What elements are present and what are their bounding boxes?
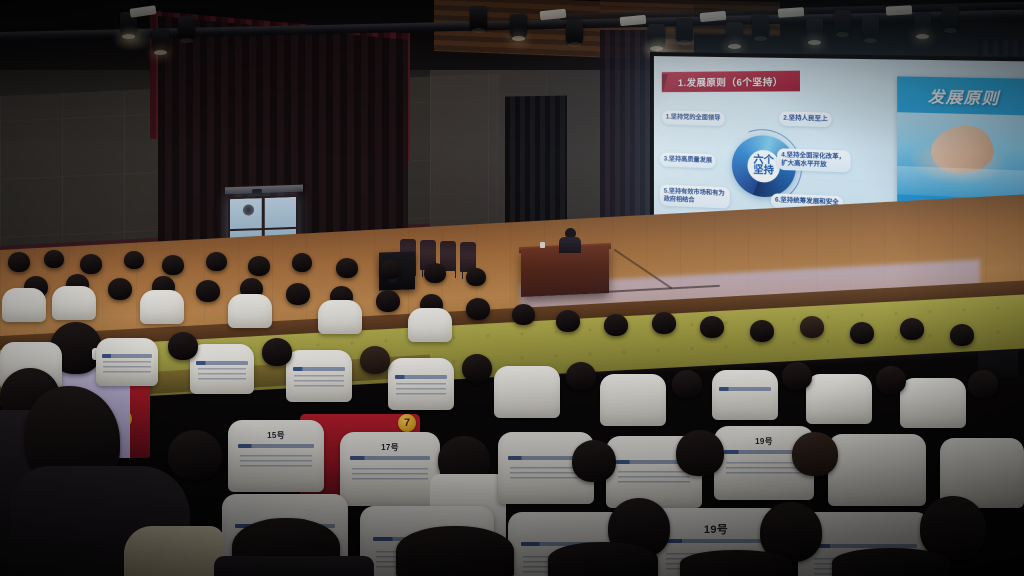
diagram-point-5: 5.坚持有效市场和有为政府相结合 xyxy=(660,184,730,208)
stage-light-icon xyxy=(510,14,527,38)
audience-head xyxy=(850,322,874,344)
audience-head xyxy=(900,318,924,340)
audience-head xyxy=(292,253,312,272)
seat-headrest xyxy=(828,434,926,506)
audience-head xyxy=(566,362,596,390)
audience-head xyxy=(950,324,974,346)
audience-head xyxy=(162,255,184,275)
diagram-center-line2: 坚持 xyxy=(753,166,774,177)
seat-headrest xyxy=(408,308,452,342)
seat-headrest xyxy=(318,300,362,334)
audience-head xyxy=(248,256,270,276)
stage-light-icon xyxy=(914,12,931,36)
audience-head xyxy=(792,432,838,476)
seat-headrest xyxy=(52,286,96,320)
stage-light-icon xyxy=(470,6,487,30)
stage-light-icon xyxy=(648,24,665,48)
seat-headrest xyxy=(806,374,872,424)
stage-light-icon xyxy=(886,5,912,15)
stage-light-icon xyxy=(566,20,583,44)
audience-head xyxy=(700,316,724,338)
audience-head xyxy=(556,310,580,332)
poster-swimmer-photo xyxy=(897,112,1024,200)
seat-number-label: 15号 xyxy=(228,430,324,441)
audience-head xyxy=(604,314,628,336)
slide-title-banner: 1.发展原则（6个坚持） xyxy=(662,71,800,93)
seat-number-label: 17号 xyxy=(340,442,440,453)
seat-headrest xyxy=(494,366,560,418)
audience-head xyxy=(462,354,492,382)
seat-headrest xyxy=(712,370,778,420)
seat-logo xyxy=(719,387,772,391)
seat-headrest xyxy=(96,338,158,386)
door-sticker-icon xyxy=(243,204,254,215)
audience-head xyxy=(380,260,401,279)
seat-logo xyxy=(102,354,152,358)
seat-logo xyxy=(238,444,315,448)
audience-head xyxy=(750,320,774,342)
seat-headrest xyxy=(140,290,184,324)
audience-head xyxy=(124,251,144,269)
seat-print-lines xyxy=(352,468,428,482)
audience-head xyxy=(206,252,227,271)
audience-head xyxy=(108,278,132,300)
seat-print-lines xyxy=(510,467,583,481)
seat-print-lines xyxy=(198,368,247,382)
audience-head xyxy=(652,312,676,334)
stage-light-icon xyxy=(862,16,879,40)
audience-head xyxy=(572,440,616,482)
stage-light-icon xyxy=(752,14,769,38)
audience-head xyxy=(782,362,812,390)
seat-headrest: 15号 xyxy=(228,420,324,492)
stage-light-icon xyxy=(834,10,851,34)
audience-body xyxy=(124,526,224,576)
audience-head xyxy=(676,430,724,476)
seat-headrest xyxy=(228,294,272,328)
seat-print-lines xyxy=(103,361,150,375)
seat-headrest xyxy=(900,378,966,428)
seat-logo xyxy=(395,375,448,379)
seat-headrest xyxy=(2,288,46,322)
audience-head xyxy=(876,366,906,394)
seat-print-lines xyxy=(396,383,446,397)
presenter xyxy=(559,228,581,252)
audience-head xyxy=(800,316,824,338)
audience-head xyxy=(168,332,198,360)
stage-light-icon xyxy=(130,5,157,18)
diagram-point-1: 1.坚持党的全面领导 xyxy=(662,110,725,125)
audience-body xyxy=(214,556,374,576)
audience-head xyxy=(920,496,986,560)
auditorium-scene: 1.发展原则（6个坚持） 六个 坚持 1.坚持党的全面领导 2.坚持人民至上 3… xyxy=(0,0,1024,576)
stage-light-icon xyxy=(178,16,195,40)
seat-print-lines xyxy=(618,471,691,485)
audience-head xyxy=(466,298,490,320)
stage-light-icon xyxy=(152,28,169,52)
poster-title-text: 发展原则 xyxy=(897,85,1024,110)
audience-head xyxy=(548,542,658,576)
seat-headrest: 17号 xyxy=(340,432,440,506)
audience-head xyxy=(336,258,358,278)
audience-head xyxy=(44,250,64,268)
audience-head xyxy=(512,304,535,325)
audience-head xyxy=(8,252,30,272)
audience-head xyxy=(424,263,446,283)
audience-head xyxy=(832,548,950,576)
audience-head xyxy=(396,526,514,576)
diagram-point-2: 2.坚持人民至上 xyxy=(779,111,832,126)
seat-headrest xyxy=(286,350,352,402)
seat-print-lines xyxy=(240,455,313,469)
stage-light-icon xyxy=(726,22,743,46)
seat-headrest xyxy=(600,374,666,426)
audience-head xyxy=(196,280,220,302)
audience-head xyxy=(968,370,998,398)
stage-light-icon xyxy=(676,18,693,42)
diagram-point-3: 3.坚持高质量发展 xyxy=(660,152,716,168)
audience-head xyxy=(262,338,292,366)
seat-headrest xyxy=(190,344,254,394)
audience-seating: 9 xyxy=(0,250,1024,576)
audience-head xyxy=(376,290,400,312)
audience-head xyxy=(672,370,702,398)
audience-head xyxy=(286,283,310,305)
seat-logo xyxy=(811,544,917,548)
audience-head xyxy=(80,254,102,274)
stage-light-icon xyxy=(778,7,805,18)
seat-print-lines xyxy=(294,375,344,389)
slide-title-text: 1.发展原则（6个坚持） xyxy=(678,74,783,89)
seat-logo xyxy=(663,539,769,543)
seat-logo xyxy=(350,456,430,460)
seat-logo xyxy=(293,367,346,371)
diagram-point-4: 4.坚持全面深化改革，扩大高水平开放 xyxy=(777,148,851,172)
water-cup xyxy=(540,242,545,248)
stage-light-icon xyxy=(942,6,959,30)
seat-number-badge: 7 xyxy=(398,414,416,432)
audience-head xyxy=(168,430,222,480)
audience-head xyxy=(360,346,390,374)
audience-head xyxy=(466,268,486,286)
stage-light-icon xyxy=(806,18,823,42)
seat-print-lines xyxy=(726,462,802,476)
seat-headrest xyxy=(388,358,454,410)
audience-head xyxy=(680,550,792,576)
seat-logo xyxy=(196,361,247,365)
